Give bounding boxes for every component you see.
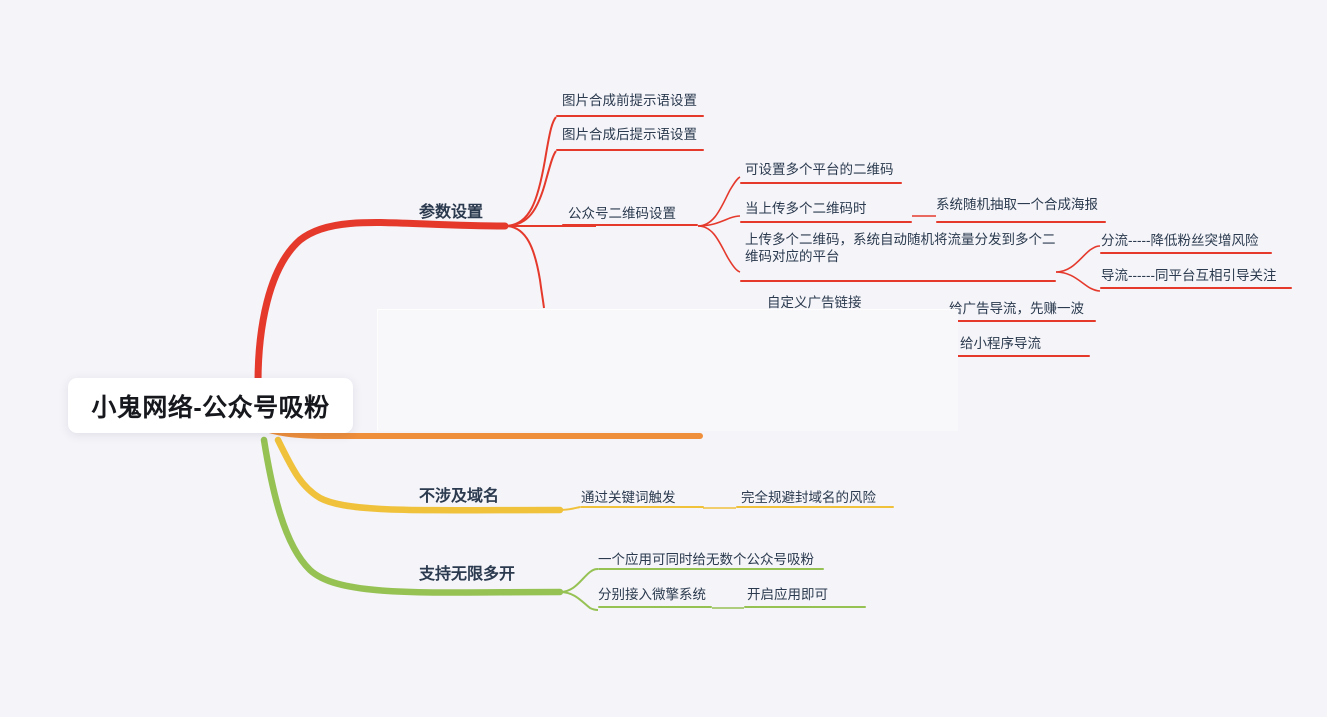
- topic-zhichi-duokai[interactable]: 支持无限多开: [419, 560, 515, 584]
- leaf-miniapp-traffic[interactable]: 给小程序导流: [960, 335, 1041, 352]
- leaf-tip-after[interactable]: 图片合成后提示语设置: [562, 126, 697, 143]
- leaf-when-multi-upload[interactable]: 当上传多个二维码时: [745, 200, 867, 217]
- underline-tip-after: [556, 149, 704, 151]
- link-duokai-oneapp: [560, 569, 598, 592]
- underline-ad-earn: [948, 320, 1096, 322]
- leaf-distribute-traffic[interactable]: 上传多个二维码，系统自动随机将流量分发到多个二维码对应的平台: [745, 231, 1057, 265]
- leaf-weiqing-system[interactable]: 分别接入微擎系统: [598, 586, 706, 603]
- overlay-panel: [377, 309, 958, 431]
- link-qrcode-whenmulti: [698, 216, 740, 226]
- root-node[interactable]: 小鬼网络-公众号吸粉: [68, 378, 353, 433]
- underline-when-multi: [740, 221, 912, 223]
- link-duokai-weiqing: [560, 592, 598, 610]
- link-distribute-daoliu: [1056, 272, 1100, 291]
- link-yuming-keyword: [560, 507, 580, 510]
- link-canshu-tipafter: [505, 151, 556, 226]
- underline-tip-before: [556, 115, 704, 117]
- underline-daoliu: [1100, 287, 1292, 289]
- leaf-ad-traffic-earn[interactable]: 给广告导流，先赚一波: [949, 300, 1084, 317]
- link-distribute-fenliu: [1056, 246, 1100, 272]
- leaf-multi-platform-qr[interactable]: 可设置多个平台的二维码: [745, 161, 894, 178]
- root-label: 小鬼网络-公众号吸粉: [91, 388, 329, 424]
- link-root-duokai: [264, 440, 560, 593]
- topic-bushe-yuming[interactable]: 不涉及域名: [419, 482, 499, 506]
- leaf-enable-app[interactable]: 开启应用即可: [747, 586, 828, 603]
- topic-canshu-shezhi[interactable]: 参数设置: [419, 198, 483, 222]
- leaf-qrcode-settings[interactable]: 公众号二维码设置: [568, 205, 676, 222]
- mindmap-canvas: 小鬼网络-公众号吸粉 参数设置 不涉及域名 支持无限多开 图片合成前提示语设置 …: [0, 0, 1327, 717]
- link-canshu-tipbefore: [505, 117, 556, 226]
- link-qrcode-distribute: [698, 226, 740, 272]
- underline-qrcode: [562, 224, 698, 226]
- leaf-daoliu[interactable]: 导流------同平台互相引导关注: [1101, 267, 1276, 284]
- leaf-avoid-domain-risk[interactable]: 完全规避封域名的风险: [741, 489, 876, 506]
- underline-keyword: [580, 506, 704, 508]
- underline-distribute: [740, 280, 1056, 282]
- underline-ad-miniapp: [948, 355, 1090, 357]
- link-canshu-adlink: [505, 226, 544, 308]
- underline-enable-app: [744, 606, 866, 608]
- underline-avoid-risk: [736, 506, 894, 508]
- link-qrcode-multiplatform: [698, 177, 740, 226]
- leaf-one-app-many-accounts[interactable]: 一个应用可同时给无数个公众号吸粉: [598, 551, 814, 568]
- underline-one-app: [598, 568, 824, 570]
- leaf-keyword-trigger[interactable]: 通过关键词触发: [581, 489, 676, 506]
- leaf-fenliu[interactable]: 分流-----降低粉丝突增风险: [1101, 232, 1258, 249]
- leaf-tip-before[interactable]: 图片合成前提示语设置: [562, 92, 697, 109]
- underline-random-poster: [936, 221, 1106, 223]
- underline-multi-platform: [740, 182, 902, 184]
- underline-weiqing: [598, 606, 712, 608]
- underline-fenliu: [1100, 252, 1272, 254]
- leaf-random-poster[interactable]: 系统随机抽取一个合成海报: [936, 196, 1098, 213]
